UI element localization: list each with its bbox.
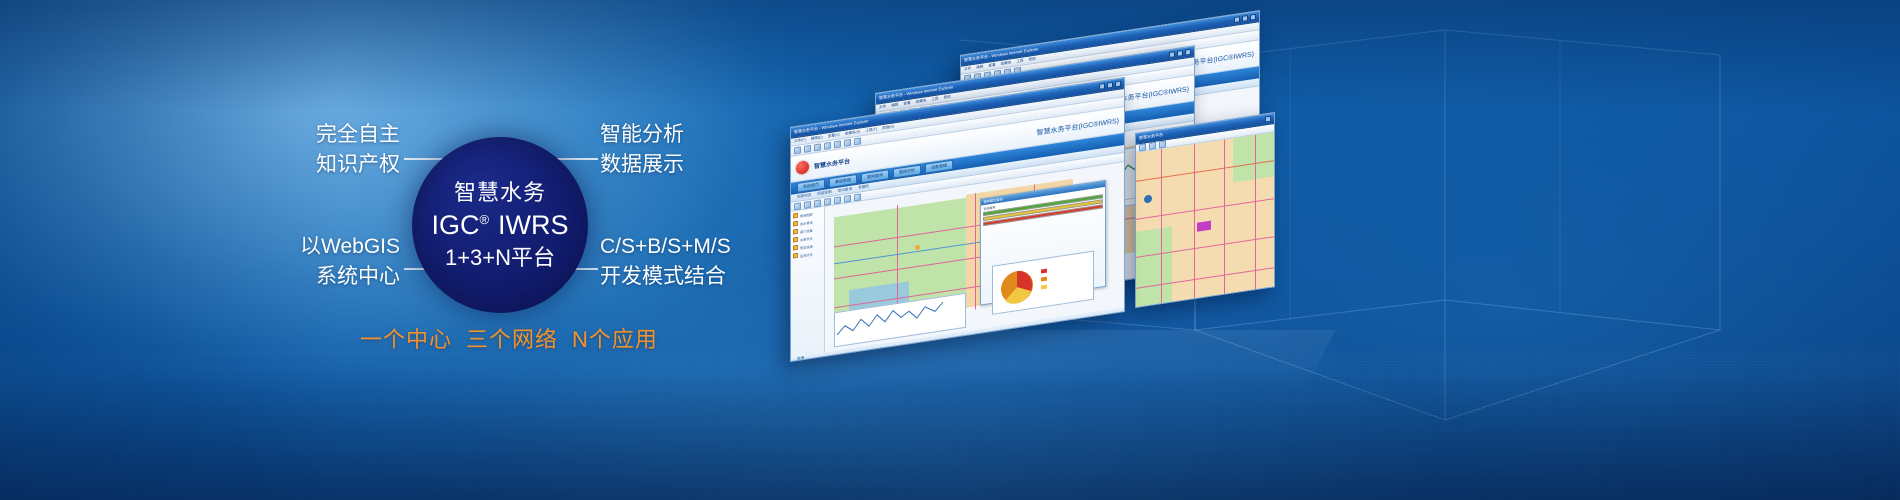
select-icon[interactable] (824, 197, 831, 205)
pie-chart-svg (993, 255, 1073, 315)
zoom-in-icon[interactable] (1149, 142, 1156, 150)
menu-item[interactable]: 编辑 (976, 65, 983, 71)
pan-icon[interactable] (1139, 143, 1146, 151)
feature-label-top-left: 完全自主 知识产权 (190, 120, 400, 181)
menu-item[interactable]: 收藏夹 (1001, 60, 1012, 67)
app-window-1[interactable]: 智慧水务平台 - Windows Internet Explorer 文件(F)… (790, 77, 1125, 362)
menu-item[interactable]: 查看 (988, 63, 995, 69)
feature-label-bottom-right-line1: C/S+B/S+M/S (600, 232, 731, 262)
platform-circle-title: 智慧水务 (454, 179, 546, 207)
feature-label-top-right: 智能分析 数据展示 (600, 120, 684, 181)
subnav-item[interactable]: 图层控制 (817, 190, 831, 197)
subnav-item[interactable]: 地图浏览 (797, 193, 811, 200)
platform-circle-subtitle: 1+3+N平台 (445, 244, 555, 272)
menu-item[interactable]: 编辑 (891, 103, 898, 109)
window4-map-canvas[interactable] (1136, 132, 1274, 308)
refresh-icon[interactable] (824, 142, 831, 150)
feature-label-top-right-line1: 智能分析 (600, 120, 684, 150)
stop-icon[interactable] (814, 143, 821, 151)
menu-item[interactable]: 编辑(E) (811, 135, 823, 142)
close-icon[interactable] (1185, 49, 1191, 56)
close-icon[interactable] (1115, 81, 1121, 88)
menu-item[interactable]: 文件 (964, 66, 971, 72)
home-icon[interactable] (834, 140, 841, 148)
window4-controls[interactable] (1265, 116, 1271, 123)
menu-item[interactable]: 帮助(H) (882, 124, 894, 131)
back-icon[interactable] (794, 146, 801, 154)
maximize-icon[interactable] (1177, 50, 1183, 57)
tagline-part3: N个应用 (572, 327, 658, 352)
print-icon[interactable] (854, 193, 861, 201)
tagline-part2: 三个网络 (466, 327, 558, 352)
subnav-item[interactable]: 专题图 (858, 184, 869, 191)
feature-label-bottom-right-line2: 开发模式结合 (600, 262, 731, 292)
feature-label-bottom-left: 以WebGIS 系统中心 (180, 232, 400, 293)
feature-label-top-right-line2: 数据展示 (600, 150, 684, 180)
window1-layer-tree[interactable]: 管网图层 供水管线 阀门设备 水表节点 泵站设施 监测点位 (791, 207, 825, 357)
maximize-icon[interactable] (1242, 15, 1248, 22)
product-igc: IGC (431, 210, 479, 240)
product-iwrs: IWRS (498, 210, 569, 240)
window1-header-title: 智慧水务平台(IGC®IWRS) (1036, 115, 1119, 137)
company-logo-icon (796, 160, 809, 175)
close-icon[interactable] (1265, 116, 1271, 123)
window2-controls[interactable] (1169, 49, 1191, 58)
tagline: 一个中心三个网络N个应用 (360, 322, 658, 354)
minimize-icon[interactable] (1234, 16, 1240, 23)
pan-icon[interactable] (794, 202, 801, 210)
feature-label-bottom-left-line1: 以WebGIS (180, 232, 400, 262)
window1-controls[interactable] (1099, 81, 1121, 90)
zoom-in-icon[interactable] (804, 200, 811, 208)
window1-brand-name: 智慧水务平台 (814, 156, 850, 170)
close-icon[interactable] (1250, 14, 1256, 21)
feature-label-bottom-right: C/S+B/S+M/S 开发模式结合 (600, 232, 731, 293)
menu-item[interactable]: 帮助 (1029, 57, 1036, 63)
feature-label-bottom-left-line2: 系统中心 (180, 262, 400, 292)
menu-item[interactable]: 文件 (879, 104, 886, 110)
subnav-item[interactable]: 空间查询 (838, 187, 852, 194)
identify-icon[interactable] (844, 194, 851, 202)
app-window-4[interactable]: 智慧水务平台 (1135, 112, 1275, 308)
tagline-part1: 一个中心 (360, 327, 452, 352)
banner-root: 完全自主 知识产权 以WebGIS 系统中心 智能分析 数据展示 C/S+B/S… (0, 0, 1900, 500)
window4-gis-view (1136, 132, 1274, 308)
platform-diagram: 完全自主 知识产权 以WebGIS 系统中心 智能分析 数据展示 C/S+B/S… (0, 0, 820, 500)
menu-item[interactable]: 工具 (1016, 59, 1023, 65)
menu-item[interactable]: 帮助 (944, 95, 951, 101)
menu-item[interactable]: 查看(V) (828, 133, 840, 140)
screenshot-stack: 智慧水务平台 - Windows Internet Explorer 文件编辑查… (790, 55, 1350, 355)
window4-content (1136, 132, 1274, 308)
layers-icon[interactable] (1159, 140, 1166, 148)
menu-item[interactable]: 工具(T) (865, 127, 877, 134)
zoom-out-icon[interactable] (814, 199, 821, 207)
maximize-icon[interactable] (1107, 82, 1113, 89)
menu-item[interactable]: 文件(F) (794, 138, 806, 145)
menu-item[interactable]: 工具 (931, 97, 938, 103)
menu-item[interactable]: 收藏夹 (916, 98, 927, 105)
minimize-icon[interactable] (1099, 83, 1105, 90)
platform-circle-product: IGC®IWRS (431, 209, 568, 241)
window3-controls[interactable] (1234, 14, 1256, 23)
measure-icon[interactable] (834, 196, 841, 204)
search-icon[interactable] (844, 139, 851, 147)
registered-trademark-icon: ® (479, 212, 489, 227)
menu-item[interactable]: 查看 (903, 101, 910, 107)
minimize-icon[interactable] (1169, 51, 1175, 58)
feature-label-top-left-line1: 完全自主 (190, 120, 400, 150)
forward-icon[interactable] (804, 145, 811, 153)
favorites-icon[interactable] (854, 137, 861, 145)
feature-label-top-left-line2: 知识产权 (190, 150, 400, 180)
platform-circle: 智慧水务 IGC®IWRS 1+3+N平台 (412, 137, 588, 313)
